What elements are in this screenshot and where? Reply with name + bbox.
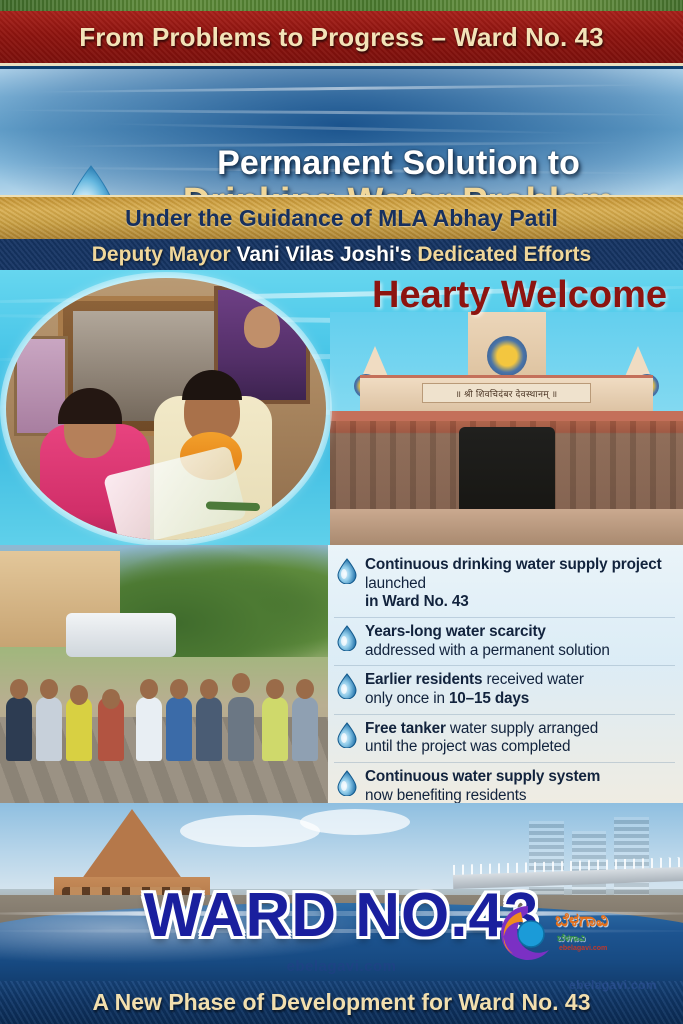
person — [292, 697, 318, 761]
highlight-text: Years-long water scarcityaddressed with … — [365, 623, 610, 660]
temple-photo: ॥ श्री शिवचिदंबर देवस्थानम् ॥ — [330, 312, 683, 545]
person — [228, 697, 254, 761]
person-head — [232, 673, 250, 693]
person — [196, 697, 222, 761]
person-head — [102, 689, 120, 709]
person-head — [170, 679, 188, 699]
person — [6, 697, 32, 761]
portrait-photo — [6, 278, 326, 540]
water-drop-bullet-icon — [336, 625, 358, 656]
top-banner-text: From Problems to Progress – Ward No. 43 — [79, 22, 604, 53]
person — [262, 697, 288, 761]
guidance-band: Under the Guidance of MLA Abhay Patil — [0, 195, 683, 239]
portrait-circle — [6, 278, 326, 540]
deputy-mayor-band: Deputy Mayor Vani Vilas Joshi's Dedicate… — [0, 239, 683, 270]
highlight-item: Earlier residents received wateronly onc… — [334, 666, 675, 714]
highlight-text: Continuous water supply systemnow benefi… — [365, 768, 600, 803]
watermark: ebelagavi.com — [0, 958, 683, 975]
top-banner: From Problems to Progress – Ward No. 43 — [0, 11, 683, 66]
person-head — [200, 679, 218, 699]
mid-section: Continuous drinking water supply project… — [0, 545, 683, 803]
temple-inscription: ॥ श्री शिवचिदंबर देवस्थानम् ॥ — [422, 383, 591, 403]
community-meeting-photo — [0, 545, 328, 803]
person-head — [40, 679, 58, 699]
highlight-item: Free tanker water supply arrangeduntil t… — [334, 715, 675, 763]
van — [66, 613, 176, 657]
logo-kannada-text: ಬೆಳಗಾವಿ — [555, 910, 608, 932]
main-title: Permanent Solution to Drinking Water Pro… — [122, 145, 675, 195]
temple-tower — [76, 809, 188, 887]
temple-plinth — [330, 509, 683, 545]
person — [166, 697, 192, 761]
footer-text: A New Phase of Development for Ward No. … — [92, 989, 590, 1016]
water-ripple — [102, 122, 580, 135]
person-head — [10, 679, 28, 699]
deputy-mayor-suffix: Dedicated Efforts — [412, 243, 592, 266]
person-head — [140, 679, 158, 699]
logo-swirl-icon — [497, 902, 559, 964]
water-ripple — [0, 109, 683, 117]
hero-section: ॥ श्री शिवचिदंबर देवस्थानम् ॥ Hearty — [0, 270, 683, 545]
water-drop-bullet-icon — [336, 558, 358, 589]
water-drop-bullet-icon — [336, 770, 358, 801]
water-drop-icon — [62, 165, 120, 195]
person — [136, 697, 162, 761]
cloud — [300, 809, 410, 835]
hearty-welcome-text: Hearty Welcome — [372, 274, 667, 317]
highlight-item: Continuous water supply systemnow benefi… — [334, 763, 675, 803]
top-green-strip — [0, 0, 683, 11]
watermark-secondary: ebelagavi.com — [569, 978, 657, 992]
temple-cornice — [330, 411, 683, 421]
highlight-item: Continuous drinking water supply project… — [334, 551, 675, 618]
highlights-list: Continuous drinking water supply project… — [328, 545, 683, 803]
title-band: Permanent Solution to Drinking Water Pro… — [0, 69, 683, 195]
logo-url-text: ebelagavi.com — [559, 945, 607, 952]
water-drop-bullet-icon — [336, 722, 358, 753]
framed-portrait-head — [244, 306, 280, 348]
main-title-line1: Permanent Solution to — [122, 145, 675, 182]
main-title-line2: Drinking Water Problem — [122, 182, 675, 195]
highlight-item: Years-long water scarcityaddressed with … — [334, 618, 675, 666]
highlight-text: Continuous drinking water supply project… — [365, 556, 673, 612]
water-drop-bullet-icon — [336, 673, 358, 704]
person-head — [70, 685, 88, 705]
person — [66, 697, 92, 761]
bouquet-stem — [206, 501, 260, 511]
poster-root: From Problems to Progress – Ward No. 43 … — [0, 0, 683, 1024]
deputy-mayor-prefix: Deputy Mayor — [92, 243, 237, 266]
temple-medallion-icon — [487, 336, 527, 376]
person-head — [296, 679, 314, 699]
deputy-mayor-text: Deputy Mayor Vani Vilas Joshi's Dedicate… — [92, 243, 591, 267]
highlight-text: Free tanker water supply arrangeduntil t… — [365, 720, 598, 757]
highlight-text: Earlier residents received wateronly onc… — [365, 671, 584, 708]
deputy-mayor-name: Vani Vilas Joshi's — [236, 243, 411, 266]
water-ripple — [34, 83, 649, 93]
guidance-text: Under the Guidance of MLA Abhay Patil — [125, 205, 558, 232]
person — [36, 697, 62, 761]
person-head — [266, 679, 284, 699]
logo-sub-text: ಬೆಳಗಾವಿ — [557, 933, 585, 944]
